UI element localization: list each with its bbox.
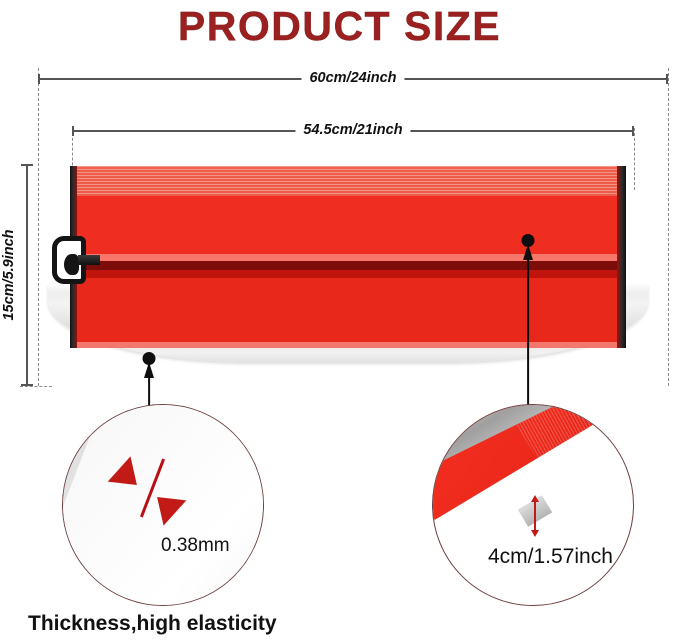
height-dimension-line <box>26 164 28 386</box>
leader-line-blade-depth <box>521 234 535 406</box>
extension-line-right-outer <box>668 68 669 386</box>
dimension-cap-right <box>632 126 634 136</box>
leader-stick <box>527 246 529 418</box>
ribbed-texture <box>70 166 626 196</box>
blade-width-label: 54.5cm/21inch <box>295 122 410 138</box>
page-title: PRODUCT SIZE <box>0 2 679 50</box>
height-label: 15cm/5.9inch <box>1 226 17 323</box>
squeegee-red-body <box>70 166 626 348</box>
thickness-detail-circle: 0.38mm <box>62 404 264 606</box>
dimension-cap-left <box>38 74 40 84</box>
clamp-stem <box>78 255 100 265</box>
dimension-cap-top <box>21 164 33 166</box>
clamp-hole <box>64 254 79 275</box>
dimension-cap-right <box>666 74 668 84</box>
leader-dot <box>522 234 535 247</box>
leader-dot <box>143 352 156 365</box>
end-cap-clamp <box>52 236 88 284</box>
blade-depth-detail-circle: 4cm/1.57inch <box>432 404 634 606</box>
dimension-cap-bottom <box>21 384 33 386</box>
extension-line-left-outer <box>38 68 39 386</box>
product-illustration <box>48 166 648 388</box>
right-edge-shadow <box>617 166 626 348</box>
thickness-value-label: 0.38mm <box>161 535 230 557</box>
overall-width-label: 60cm/24inch <box>301 70 404 86</box>
blade-depth-arrow-icon <box>534 501 536 531</box>
caption-text: Thickness,high elasticity <box>28 612 277 636</box>
dimension-cap-left <box>72 126 74 136</box>
blade-depth-value-label: 4cm/1.57inch <box>488 545 613 569</box>
leader-line-thickness <box>142 352 156 404</box>
